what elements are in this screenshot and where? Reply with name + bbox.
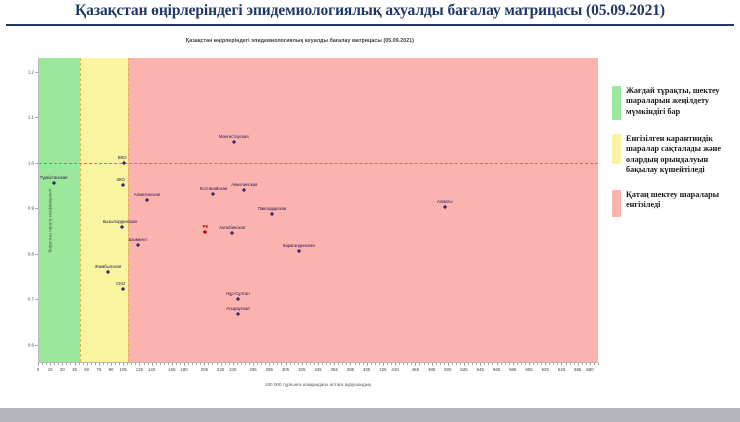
x-tick-mark-minor [294,363,295,365]
x-tick-mark-minor [180,363,181,365]
title-divider [6,24,734,26]
x-tick-label: 240 [229,367,236,372]
x-tick-mark-minor [452,363,453,365]
x-tick-mark-minor [492,363,493,365]
x-tick-mark-minor [582,363,583,365]
point-label: Павлодарская [258,206,287,211]
x-tick-mark-minor [164,363,165,365]
x-tick-mark-minor [66,363,67,365]
x-tick-mark-minor [229,363,230,365]
x-tick-mark-minor [537,363,538,365]
x-tick-mark-minor [330,363,331,365]
legend-swatch [612,86,621,120]
y-tick-mark [35,208,38,209]
x-tick-mark-minor [95,363,96,365]
x-tick-mark-minor [403,363,404,365]
point-label: СКО [116,281,125,286]
x-tick-mark-minor [541,363,542,365]
x-tick-mark-minor [598,363,599,365]
zone-divider-2 [128,58,129,362]
plot-wrapper: ТүркістанскаяВКОЗКОАлматинскаяКызылордин… [38,58,598,363]
chart-container: Қазақстан өңірлеріндегі эпидемиологиялық… [0,30,740,398]
x-tick-label: 325 [298,367,305,372]
x-tick-mark-minor [484,363,485,365]
x-tick-mark-minor [472,363,473,365]
x-tick-mark-minor [488,363,489,365]
x-tick-mark-minor [135,363,136,365]
x-tick-mark-minor [424,363,425,365]
x-tick-mark-minor [314,363,315,365]
x-tick-mark-minor [566,363,567,365]
x-tick-mark-minor [168,363,169,365]
x-tick-mark-minor [371,363,372,365]
x-tick-mark-minor [42,363,43,365]
x-tick-mark-minor [148,363,149,365]
y-tick-label: 0.9 [28,206,34,211]
point-label: Атырауская [226,306,250,311]
x-tick-label: 645 [558,367,565,372]
point-label: Актюбинская [219,225,245,230]
x-tick-label: 665 [574,367,581,372]
x-tick-mark-minor [594,363,595,365]
x-tick-label: 385 [347,367,354,372]
plot-area: ТүркістанскаяВКОЗКОАлматинскаяКызылордин… [38,58,598,363]
x-tick-mark-minor [553,363,554,365]
x-tick-mark-minor [298,363,299,365]
x-tick-mark-minor [119,363,120,365]
point-label: Жамбылская [95,264,121,269]
x-tick-label: 365 [331,367,338,372]
x-tick-mark-minor [399,363,400,365]
x-tick-mark-minor [58,363,59,365]
x-tick-mark-minor [144,363,145,365]
x-tick-mark-minor [115,363,116,365]
x-tick-mark-minor [428,363,429,365]
legend-swatch [612,134,621,164]
footer-bar [0,408,740,422]
x-tick-mark-minor [379,363,380,365]
x-tick-mark-minor [192,363,193,365]
x-tick-mark-minor [444,363,445,365]
x-tick-mark-minor [217,363,218,365]
x-tick-label: 605 [525,367,532,372]
x-tick-mark-minor [156,363,157,365]
y-tick-mark [35,299,38,300]
x-tick-mark-minor [574,363,575,365]
x-tick-mark-minor [310,363,311,365]
x-tick-mark-minor [440,363,441,365]
x-tick-mark-minor [265,363,266,365]
yellow-zone [80,58,129,362]
page-title: Қазақстан өңірлеріндегі эпидемиологиялық… [0,2,740,20]
x-tick-mark-minor [249,363,250,365]
x-tick-mark-minor [70,363,71,365]
x-tick-mark-minor [557,363,558,365]
x-tick-label: 585 [509,367,516,372]
x-tick-label: 465 [412,367,419,372]
x-tick-mark-minor [375,363,376,365]
x-tick-mark-minor [54,363,55,365]
x-tick-mark-minor [131,363,132,365]
x-tick-mark-minor [277,363,278,365]
y-tick-label: 1.1 [28,115,34,120]
x-tick-mark-minor [501,363,502,365]
y-tick-label: 0.6 [28,342,34,347]
x-tick-label: 565 [493,367,500,372]
x-tick-label: 545 [477,367,484,372]
x-tick-label: 60 [84,367,89,372]
x-tick-label: 125 [136,367,143,372]
y-tick-label: 0.8 [28,251,34,256]
x-tick-mark-minor [208,363,209,365]
x-tick-mark-minor [549,363,550,365]
x-tick-mark-minor [411,363,412,365]
x-tick-mark-minor [261,363,262,365]
data-point[interactable] [120,182,124,186]
x-tick-mark-minor [387,363,388,365]
x-tick-mark-minor [176,363,177,365]
x-tick-mark-minor [273,363,274,365]
x-tick-mark-minor [436,363,437,365]
x-tick-label: 505 [444,367,451,372]
x-tick-mark-minor [107,363,108,365]
x-tick-label: 680 [586,367,593,372]
x-tick-mark-minor [363,363,364,365]
legend-item-1: Жағдай тұрақты, шектеу шараларын жеңілде… [612,86,738,120]
x-tick-mark-minor [460,363,461,365]
point-label: Шымкент [129,237,148,242]
x-axis-title: 100 000 тұрғынға шаққандағы аптаға ауруш… [38,382,598,387]
x-tick-mark-minor [225,363,226,365]
red-zone [128,58,598,362]
x-tick-mark-minor [476,363,477,365]
x-tick-mark-minor [290,363,291,365]
x-tick-mark-minor [160,363,161,365]
x-tick-label: 225 [217,367,224,372]
chart-legend: Жағдай тұрақты, шектеу шараларын жеңілде… [612,86,738,231]
x-tick-mark-minor [245,363,246,365]
x-tick-mark-minor [79,363,80,365]
zone-divider-1 [80,58,81,362]
point-label: РК [203,224,209,229]
x-tick-label: 0 [37,367,39,372]
x-tick-mark-minor [517,363,518,365]
y-axis-ticks: 0.60.70.80.91.01.11.2 [16,58,38,363]
legend-label: Енгізілген карантиндік шаралар сақталады… [626,134,738,176]
x-tick-mark-minor [91,363,92,365]
x-tick-label: 45 [72,367,77,372]
x-tick-mark-minor [306,363,307,365]
x-tick-mark-minor [237,363,238,365]
x-tick-label: 265 [249,367,256,372]
x-tick-mark-minor [407,363,408,365]
chart-title: Қазақстан өңірлеріндегі эпидемиологиялық… [0,38,600,44]
x-tick-mark-minor [359,363,360,365]
x-tick-label: 425 [379,367,386,372]
x-tick-mark-minor [196,363,197,365]
legend-item-2: Енгізілген карантиндік шаралар сақталады… [612,134,738,176]
x-tick-label: 625 [542,367,549,372]
x-tick-label: 305 [282,367,289,372]
x-tick-mark-minor [103,363,104,365]
y-tick-mark [35,345,38,346]
x-tick-mark-minor [533,363,534,365]
x-tick-mark-minor [346,363,347,365]
x-tick-mark-minor [241,363,242,365]
y-tick-mark [35,163,38,164]
point-label: Алматинская [134,192,160,197]
x-tick-label: 180 [180,367,187,372]
x-tick-mark-minor [355,363,356,365]
legend-label: Жағдай тұрақты, шектеу шараларын жеңілде… [626,86,738,117]
x-tick-mark-minor [468,363,469,365]
x-tick-mark-minor [419,363,420,365]
x-tick-label: 345 [314,367,321,372]
slide-page: Қазақстан өңірлеріндегі эпидемиологиялық… [0,0,740,422]
x-tick-label: 485 [428,367,435,372]
x-tick-mark-minor [570,363,571,365]
point-label: Нұр-Сұлтан [226,291,250,296]
x-tick-label: 440 [391,367,398,372]
x-tick-mark-minor [509,363,510,365]
x-tick-label: 30 [60,367,65,372]
point-label: Түркістанская [40,175,68,180]
point-label: ВКО [118,155,127,160]
x-tick-mark-minor [83,363,84,365]
x-tick-label: 405 [363,367,370,372]
x-tick-mark-minor [257,363,258,365]
x-axis-ticks: 0153045607590105125140165180205225240265… [38,363,598,375]
x-tick-label: 90 [109,367,114,372]
x-tick-label: 15 [48,367,53,372]
x-tick-mark-minor [326,363,327,365]
point-label: Акмолинская [231,182,257,187]
y-tick-label: 1.0 [28,160,34,165]
x-tick-mark-minor [586,363,587,365]
x-tick-label: 105 [120,367,127,372]
y-tick-label: 1.2 [28,69,34,74]
point-label: Алматы [437,199,453,204]
y-tick-label: 0.7 [28,297,34,302]
point-label: ЗКО [116,177,124,182]
x-tick-label: 140 [148,367,155,372]
x-tick-mark-minor [200,363,201,365]
x-tick-mark-minor [127,363,128,365]
x-tick-mark-minor [505,363,506,365]
point-label: Костанайская [200,186,227,191]
x-tick-mark-minor [46,363,47,365]
legend-swatch [612,190,621,217]
x-tick-mark-minor [391,363,392,365]
x-tick-label: 285 [266,367,273,372]
x-tick-label: 205 [201,367,208,372]
x-tick-mark-minor [212,363,213,365]
x-tick-mark-minor [338,363,339,365]
point-label: Кызылординская [103,219,137,224]
x-tick-mark-minor [281,363,282,365]
legend-item-3: Қатаң шектеу шаралары енгізіледі [612,190,738,217]
x-tick-mark-minor [525,363,526,365]
green-zone [39,58,80,362]
y-tick-mark [35,117,38,118]
legend-label: Қатаң шектеу шаралары енгізіледі [626,190,738,211]
x-tick-label: 165 [168,367,175,372]
x-tick-mark-minor [322,363,323,365]
x-tick-label: 75 [96,367,101,372]
y-tick-mark [35,254,38,255]
y-axis-title: Вирустың таралу коэффициенті [48,156,53,286]
x-tick-label: 525 [460,367,467,372]
x-tick-mark-minor [521,363,522,365]
x-tick-mark-minor [342,363,343,365]
x-tick-mark-minor [188,363,189,365]
y-tick-mark [35,72,38,73]
point-label: Мангистауская [219,134,249,139]
x-tick-mark-minor [456,363,457,365]
